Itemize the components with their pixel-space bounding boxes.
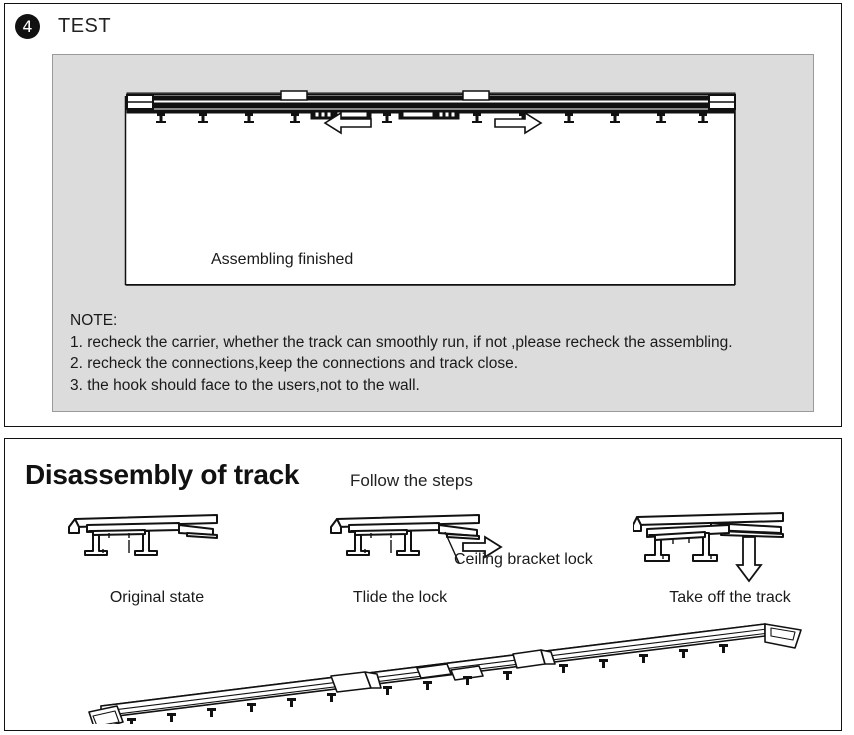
step-number-badge: 4 xyxy=(15,14,40,39)
disassembly-title: Disassembly of track xyxy=(25,459,299,491)
curtain-track-perspective-diagram xyxy=(65,614,805,724)
note-item-2: 2. recheck the connections,keep the conn… xyxy=(70,353,733,375)
step-diagram-original-state xyxy=(67,507,247,569)
disassembly-subtitle: Follow the steps xyxy=(350,471,473,491)
step-caption-original-state: Original state xyxy=(67,589,247,607)
page-title: TEST xyxy=(58,15,111,38)
note-item-1: 1. recheck the carrier, whether the trac… xyxy=(70,332,733,354)
arrow-right-icon xyxy=(495,113,541,133)
step-caption-slide-the-lock: Tlide the lock xyxy=(305,589,495,607)
test-panel: 4 TEST xyxy=(4,3,842,427)
note-block: NOTE: 1. recheck the carrier, whether th… xyxy=(70,310,733,396)
ceiling-bracket-lock-label: Ceiling bracket lock xyxy=(454,551,593,569)
step-diagram-take-off-the-track xyxy=(633,507,813,587)
step-header: 4 TEST xyxy=(15,14,111,39)
note-heading: NOTE: xyxy=(70,310,733,332)
step-caption-take-off-the-track: Take off the track xyxy=(635,589,825,607)
assembled-track-diagram xyxy=(53,55,815,315)
arrow-down-icon xyxy=(737,537,761,581)
illustration-gray-area: Assembling finished NOTE: 1. recheck the… xyxy=(52,54,814,412)
carrier-hooks xyxy=(127,644,728,724)
disassembly-panel: Disassembly of track Follow the steps Or xyxy=(4,438,842,731)
note-item-3: 3. the hook should face to the users,not… xyxy=(70,375,733,397)
stage-caption: Assembling finished xyxy=(211,251,353,269)
